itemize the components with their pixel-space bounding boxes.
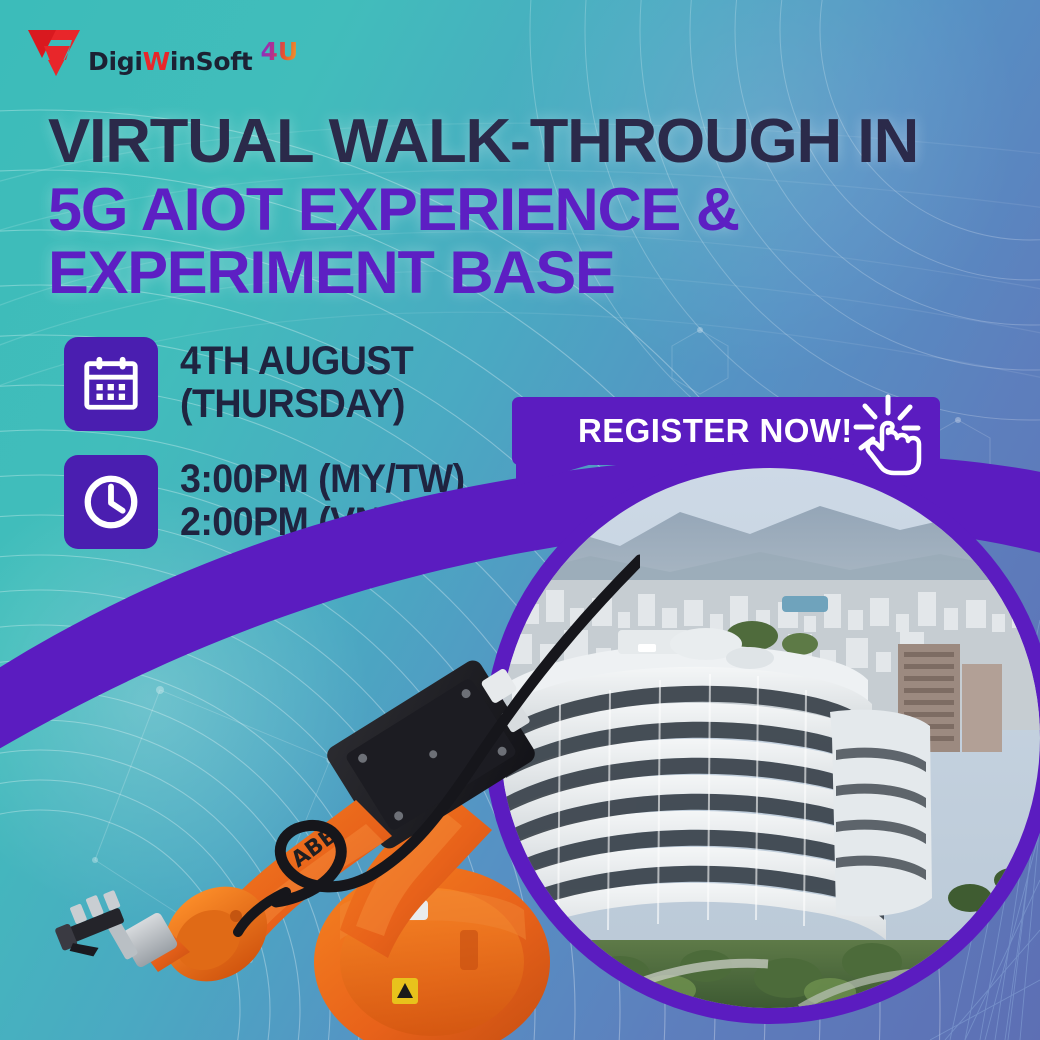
event-date-line-1: 4TH AUGUST <box>180 341 413 381</box>
headline-line-3: EXPERIMENT BASE <box>48 244 986 303</box>
industrial-robot-arm: ABB <box>40 500 640 1040</box>
event-date-row: 4TH AUGUST (THURSDAY) <box>64 337 483 431</box>
chevron-logo-icon <box>26 26 82 78</box>
logo-word-part2: inSoft <box>170 47 253 76</box>
brand-logo[interactable]: DigiWinSoft 4U <box>26 26 296 78</box>
logo-word-part1: Digi <box>88 47 143 76</box>
event-date-text: 4TH AUGUST (THURSDAY) <box>180 337 413 424</box>
logo-wordmark: DigiWinSoft <box>88 49 252 74</box>
logo-word-w: W <box>143 47 170 76</box>
headline-line-1: VIRTUAL WALK-THROUGH IN <box>48 112 986 173</box>
click-hand-icon <box>848 391 934 477</box>
headline-block: VIRTUAL WALK-THROUGH IN 5G AIOT EXPERIEN… <box>48 112 968 302</box>
logo-4u-badge: 4U <box>260 39 298 64</box>
calendar-icon <box>64 337 158 431</box>
event-time-line-1: 3:00PM (MY/TW) <box>180 459 465 499</box>
register-now-label: REGISTER NOW! <box>578 412 853 450</box>
promo-poster: DigiWinSoft 4U VIRTUAL WALK-THROUGH IN 5… <box>0 0 1040 1040</box>
headline-line-2: 5G AIOT EXPERIENCE & <box>48 181 986 240</box>
event-date-line-2: (THURSDAY) <box>180 384 413 424</box>
